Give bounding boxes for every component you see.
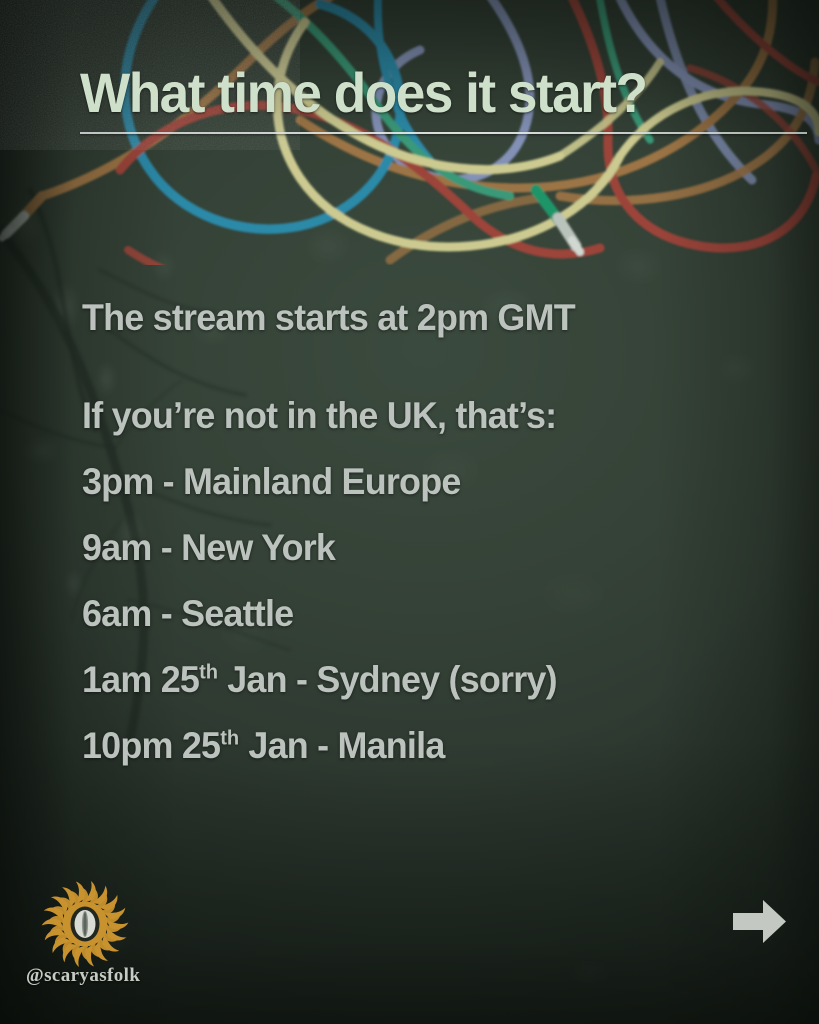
intro-line: The stream starts at 2pm GMT [82, 292, 761, 390]
subhead-line: If you’re not in the UK, that’s: [82, 390, 761, 456]
ordinal-suffix: th [199, 661, 218, 684]
slide-canvas: What time does it start? The stream star… [0, 0, 819, 1024]
next-arrow-icon[interactable]: Next [733, 900, 786, 943]
timezone-line-sydney: 1am 25th Jan - Sydney (sorry) [82, 654, 761, 720]
timezone-sydney-time: 1am 25 [82, 659, 199, 700]
timezone-line-new-york: 9am - New York [82, 522, 761, 588]
ordinal-suffix: th [220, 727, 239, 750]
page-title: What time does it start? [80, 60, 647, 125]
title-divider [80, 132, 807, 134]
timezone-manila-label: Jan - Manila [239, 725, 444, 766]
account-handle: @scaryasfolk [26, 965, 140, 987]
timezone-sydney-label: Jan - Sydney (sorry) [218, 659, 557, 700]
timezone-line-seattle: 6am - Seattle [82, 588, 761, 654]
schedule-text-block: The stream starts at 2pm GMT If you’re n… [82, 292, 782, 786]
timezone-manila-time: 10pm 25 [82, 725, 220, 766]
timezone-line-manila: 10pm 25th Jan - Manila [82, 720, 761, 786]
slide-content: What time does it start? The stream star… [0, 0, 819, 1024]
timezone-line-mainland-europe: 3pm - Mainland Europe [82, 456, 761, 522]
sun-eye-logo [33, 872, 137, 976]
